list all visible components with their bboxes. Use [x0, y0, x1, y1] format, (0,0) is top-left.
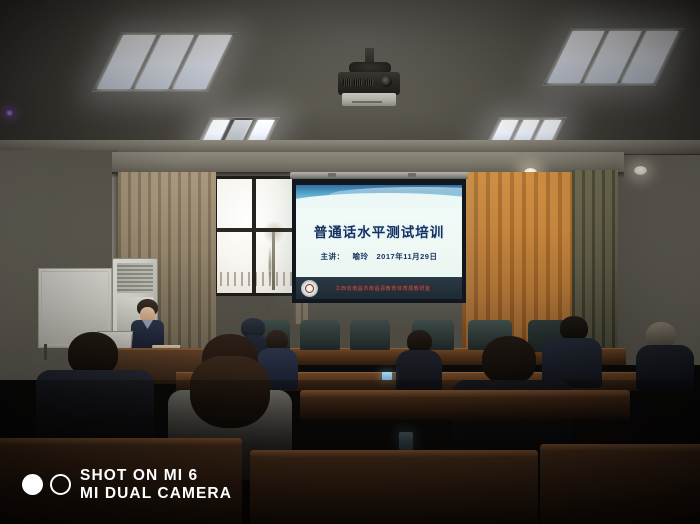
camera-watermark: SHOT ON MI 6 MI DUAL CAMERA	[22, 467, 232, 502]
bench-row-right	[540, 446, 700, 524]
attendee-grey-hair-far-right	[636, 322, 694, 388]
slide-footer-bar: 江西省南昌市南昌县教育体育局教研室	[296, 277, 462, 299]
window-frame	[214, 176, 298, 296]
slide-organization-text: 江西省南昌市南昌县教育体育局教研室	[318, 285, 462, 292]
bench-cap-center	[250, 450, 538, 457]
hollow-circle-lens-icon	[50, 474, 71, 495]
watermark-lens-icons	[22, 474, 71, 495]
projector-label-strip	[352, 101, 382, 103]
ac-vent-grille	[117, 263, 153, 293]
projector-lower-housing	[342, 93, 396, 106]
slide-subtitle-line: 主讲：喻玲2017年11月29日	[296, 251, 462, 262]
ceiling-soffit-beam	[112, 152, 624, 174]
watermark-text: SHOT ON MI 6 MI DUAL CAMERA	[80, 467, 232, 502]
bench-cap-left	[0, 438, 242, 445]
projector-lens	[381, 76, 392, 87]
watermark-line-1: SHOT ON MI 6	[80, 467, 232, 484]
slide-presenter-name: 喻玲	[353, 252, 369, 261]
projection-screen: 普通话水平测试培训 主讲：喻玲2017年11月29日 江西省南昌市南昌县教育体育…	[292, 179, 466, 303]
soffit-downlight-right	[634, 166, 647, 175]
empty-chair-2[interactable]	[300, 320, 340, 350]
empty-chair-3[interactable]	[350, 320, 390, 350]
watermark-line-2: MI DUAL CAMERA	[80, 485, 232, 502]
bench-cap-right	[540, 444, 700, 451]
purple-indicator-led	[6, 110, 13, 116]
slide-presenter-label: 主讲：	[321, 252, 345, 261]
bench-row-center	[250, 452, 538, 524]
photograph-training-room: 普通话水平测试培训 主讲：喻玲2017年11月29日 江西省南昌市南昌县教育体育…	[0, 0, 700, 524]
slide-title: 普通话水平测试培训	[296, 221, 462, 241]
slide-emblem-logo-icon	[301, 280, 318, 297]
presentation-slide: 普通话水平测试培训 主讲：喻玲2017年11月29日 江西省南昌市南昌县教育体育…	[296, 185, 462, 299]
phone-screen-glow-secondary	[382, 372, 392, 380]
filled-circle-lens-icon	[22, 474, 43, 495]
slide-header-swoosh	[296, 185, 462, 211]
attendee-head	[482, 336, 536, 384]
projection-screen-roller-housing	[290, 172, 468, 179]
bench-cap-midleft	[300, 390, 630, 397]
exterior-window	[214, 176, 298, 296]
slide-date: 2017年11月29日	[377, 252, 438, 261]
